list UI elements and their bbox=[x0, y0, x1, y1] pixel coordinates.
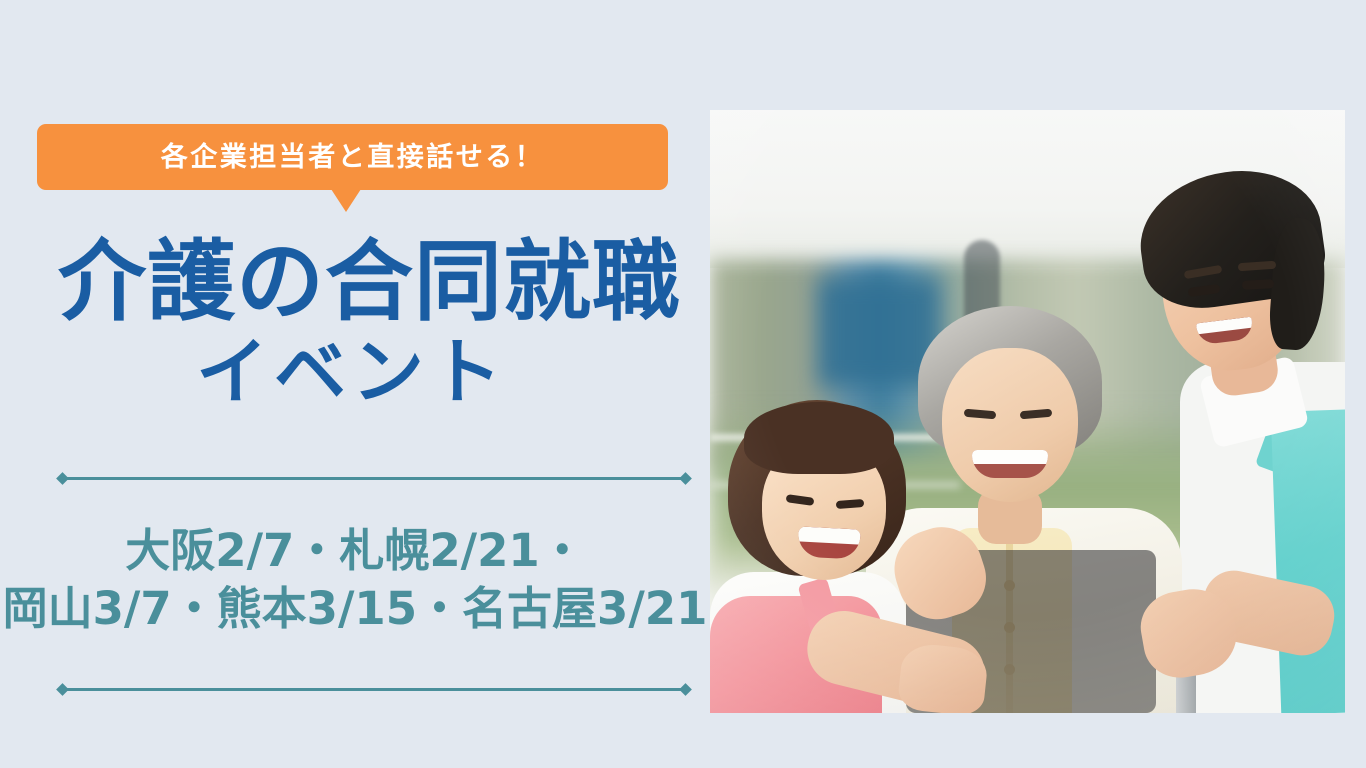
diamond-icon-right bbox=[679, 472, 692, 485]
ribbon-banner: 各企業担当者と直接話せる！ bbox=[37, 124, 668, 190]
ribbon-banner-label: 各企業担当者と直接話せる！ bbox=[161, 144, 545, 171]
decorative-rule-bottom bbox=[58, 682, 690, 696]
rule-line bbox=[64, 688, 684, 691]
event-dates-line-2: 岡山3/7・熊本3/15・名古屋3/21 bbox=[0, 580, 710, 638]
ribbon-pointer-icon bbox=[331, 189, 361, 212]
event-dates-line-1: 大阪2/7・札幌2/21・ bbox=[0, 522, 710, 580]
event-dates: 大阪2/7・札幌2/21・ 岡山3/7・熊本3/15・名古屋3/21 bbox=[0, 522, 710, 637]
event-poster: 各企業担当者と直接話せる！ 介護の合同就職 イベント 大阪2/7・札幌2/21・… bbox=[0, 0, 1366, 768]
page-title: 介護の合同就職 イベント bbox=[0, 238, 710, 408]
hero-photo bbox=[710, 110, 1345, 713]
left-content-column: 各企業担当者と直接話せる！ 介護の合同就職 イベント 大阪2/7・札幌2/21・… bbox=[0, 0, 710, 768]
photo-soft-overlay bbox=[710, 110, 1345, 713]
page-title-line-1: 介護の合同就職 bbox=[0, 238, 710, 326]
diamond-icon-right bbox=[679, 683, 692, 696]
page-title-line-2: イベント bbox=[0, 336, 710, 408]
decorative-rule-top bbox=[58, 471, 690, 485]
rule-line bbox=[64, 477, 684, 480]
